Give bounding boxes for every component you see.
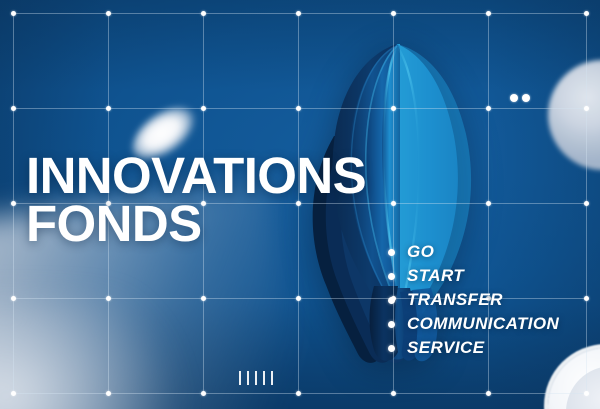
bullet-dot-icon xyxy=(388,273,395,280)
tick-mark xyxy=(255,371,257,385)
list-item-label: SERVICE xyxy=(407,338,484,358)
list-item-label: COMMUNICATION xyxy=(407,314,559,334)
list-item: TRANSFER xyxy=(388,288,559,312)
headline-line-2: FONDS xyxy=(26,200,366,248)
bullet-dot-icon xyxy=(388,321,395,328)
list-item-label: TRANSFER xyxy=(407,290,503,310)
feature-list: GO START TRANSFER COMMUNICATION SERVICE xyxy=(388,240,559,360)
bottom-left-light-glow-core xyxy=(0,300,240,409)
list-item: COMMUNICATION xyxy=(388,312,559,336)
tick-mark xyxy=(247,371,249,385)
tick-mark xyxy=(239,371,241,385)
bullet-dot-icon xyxy=(388,345,395,352)
tick-mark-group xyxy=(239,371,273,385)
bullet-dot-icon xyxy=(388,297,395,304)
list-item: GO xyxy=(388,240,559,264)
tick-mark xyxy=(271,371,273,385)
tick-mark xyxy=(263,371,265,385)
page-title: INNOVATIONS FONDS xyxy=(26,152,366,248)
list-item: SERVICE xyxy=(388,336,559,360)
accent-dot-1 xyxy=(510,94,518,102)
list-item-label: GO xyxy=(407,242,434,262)
list-item: START xyxy=(388,264,559,288)
accent-dot-2 xyxy=(522,94,530,102)
poster-canvas: INNOVATIONS FONDS GO START TRANSFER COMM… xyxy=(0,0,600,409)
bullet-dot-icon xyxy=(388,249,395,256)
list-item-label: START xyxy=(407,266,464,286)
